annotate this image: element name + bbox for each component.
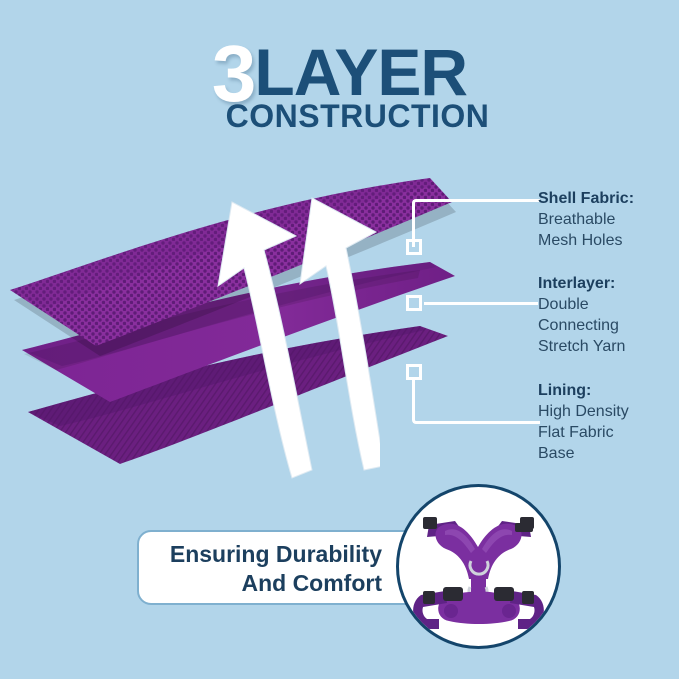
callout-lining-heading: Lining: bbox=[538, 380, 678, 401]
marker-interlayer bbox=[406, 295, 422, 311]
buckle-right bbox=[494, 587, 514, 601]
caption-line-1: Ensuring Durability bbox=[150, 540, 382, 569]
title-word: LAYER bbox=[254, 35, 467, 109]
leader-line-interlayer bbox=[424, 302, 538, 305]
airflow-arrow-2 bbox=[300, 198, 380, 470]
callout-interlayer-line3: Stretch Yarn bbox=[538, 336, 678, 357]
callout-shell-heading: Shell Fabric: bbox=[538, 188, 678, 209]
airflow-arrows bbox=[200, 140, 380, 490]
airflow-arrow-1 bbox=[218, 202, 312, 478]
buckle-left bbox=[443, 587, 463, 601]
callout-interlayer-heading: Interlayer: bbox=[538, 273, 678, 294]
caption-line-2: And Comfort bbox=[150, 569, 382, 598]
title-main-row: 3LAYER bbox=[0, 34, 679, 96]
callout-shell-fabric: Shell Fabric: Breathable Mesh Holes bbox=[538, 188, 678, 251]
leader-line-shell bbox=[412, 199, 540, 247]
callout-interlayer-line1: Double bbox=[538, 294, 678, 315]
three-layer-construction-infographic: 3LAYER CONSTRUCTION bbox=[0, 0, 679, 679]
leader-line-lining bbox=[412, 380, 540, 424]
dog-harness-illustration bbox=[399, 487, 558, 646]
caption-text: Ensuring Durability And Comfort bbox=[150, 540, 382, 598]
callout-lining: Lining: High Density Flat Fabric Base bbox=[538, 380, 678, 464]
title-number: 3 bbox=[212, 29, 255, 118]
product-image-circle bbox=[396, 484, 561, 649]
callout-shell-line2: Mesh Holes bbox=[538, 230, 678, 251]
callout-interlayer-line2: Connecting bbox=[538, 315, 678, 336]
callout-lining-line1: High Density bbox=[538, 401, 678, 422]
callout-lining-line2: Flat Fabric bbox=[538, 422, 678, 443]
marker-shell bbox=[406, 239, 422, 255]
callout-shell-line1: Breathable bbox=[538, 209, 678, 230]
callout-interlayer: Interlayer: Double Connecting Stretch Ya… bbox=[538, 273, 678, 357]
callout-lining-line3: Base bbox=[538, 443, 678, 464]
marker-lining bbox=[406, 364, 422, 380]
page-title: 3LAYER CONSTRUCTION bbox=[0, 34, 679, 132]
